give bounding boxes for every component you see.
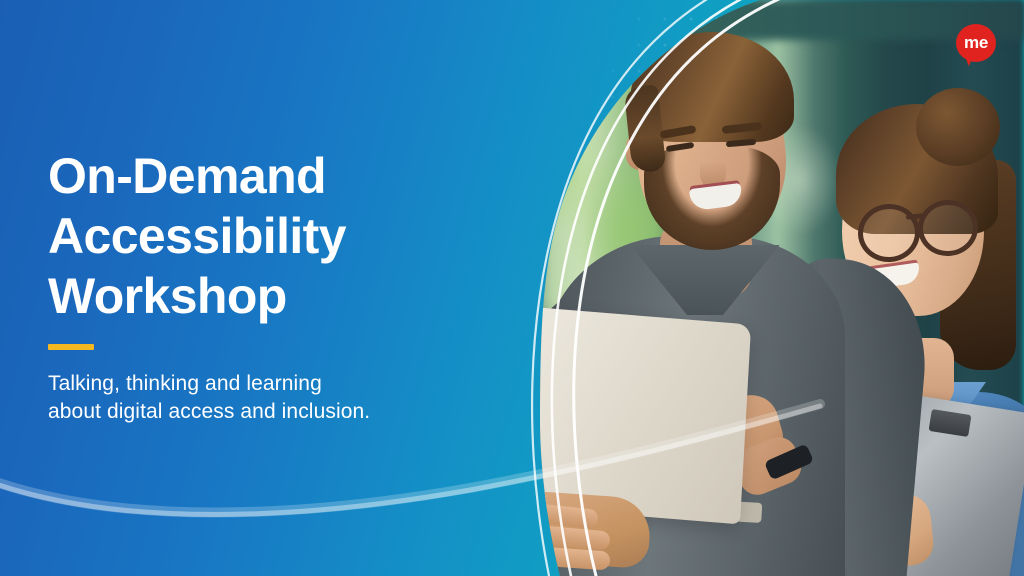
accent-rule — [48, 344, 94, 350]
promo-banner: On-Demand Accessibility Workshop Talking… — [0, 0, 1024, 576]
me-logo[interactable]: me — [956, 24, 996, 64]
page-title: On-Demand Accessibility Workshop — [48, 146, 468, 326]
woman-hair-bun — [916, 88, 1000, 166]
man-nose — [700, 150, 726, 188]
page-subtitle: Talking, thinking and learning about dig… — [48, 370, 468, 426]
logo-label: me — [956, 24, 996, 62]
